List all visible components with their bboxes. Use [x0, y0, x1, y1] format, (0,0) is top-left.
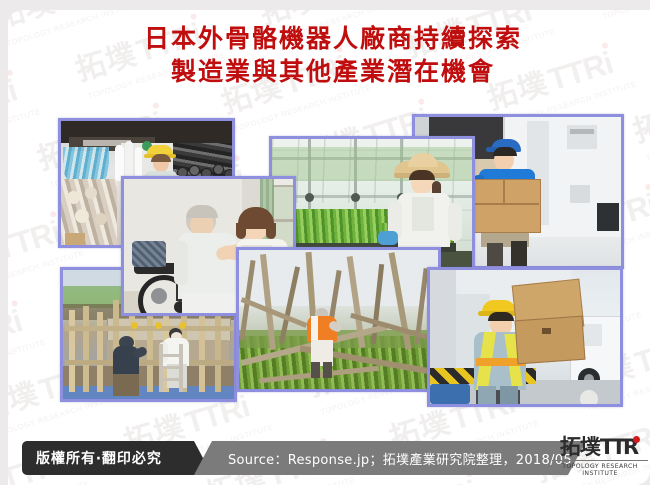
tri-logo-brand: TTR	[600, 435, 636, 459]
photo-logistics-loader[interactable]	[427, 267, 623, 407]
tri-logo-subtitle: TOPOLOGY RESEARCH INSTITUTE	[552, 460, 648, 477]
copyright-banner: 版權所有‧翻印必究	[22, 441, 212, 475]
tri-logo-wordmark: 拓墣TTR	[552, 435, 648, 459]
tri-logo-cjk: 拓墣	[560, 435, 600, 459]
source-text: Source：Response.jp；拓墣產業研究院整理，2018/05	[228, 449, 572, 468]
content-panel: 拓墣TTRiTOPOLOGY RESEARCH INSTITUTE拓墣TTRiT…	[8, 10, 650, 485]
slide-footer: 版權所有‧翻印必究 Source：Response.jp；拓墣產業研究院整理，2…	[8, 433, 650, 485]
slide-title: 日本外骨骼機器人廠商持續探索 製造業與其他產業潛在機會	[8, 22, 650, 88]
photo-disaster-cleanup-scene	[239, 250, 438, 389]
slide-root: 拓墣TTRiTOPOLOGY RESEARCH INSTITUTE拓墣TTRiT…	[0, 0, 650, 485]
source-banner: Source：Response.jp；拓墣產業研究院整理，2018/05	[194, 441, 586, 475]
tri-logo-dot-icon	[633, 436, 640, 443]
photo-logistics-loader-scene	[430, 270, 620, 404]
photo-disaster-cleanup[interactable]	[236, 247, 441, 392]
tri-logo: 拓墣TTR TOPOLOGY RESEARCH INSTITUTE	[552, 435, 648, 481]
copyright-text: 版權所有‧翻印必究	[36, 448, 162, 468]
